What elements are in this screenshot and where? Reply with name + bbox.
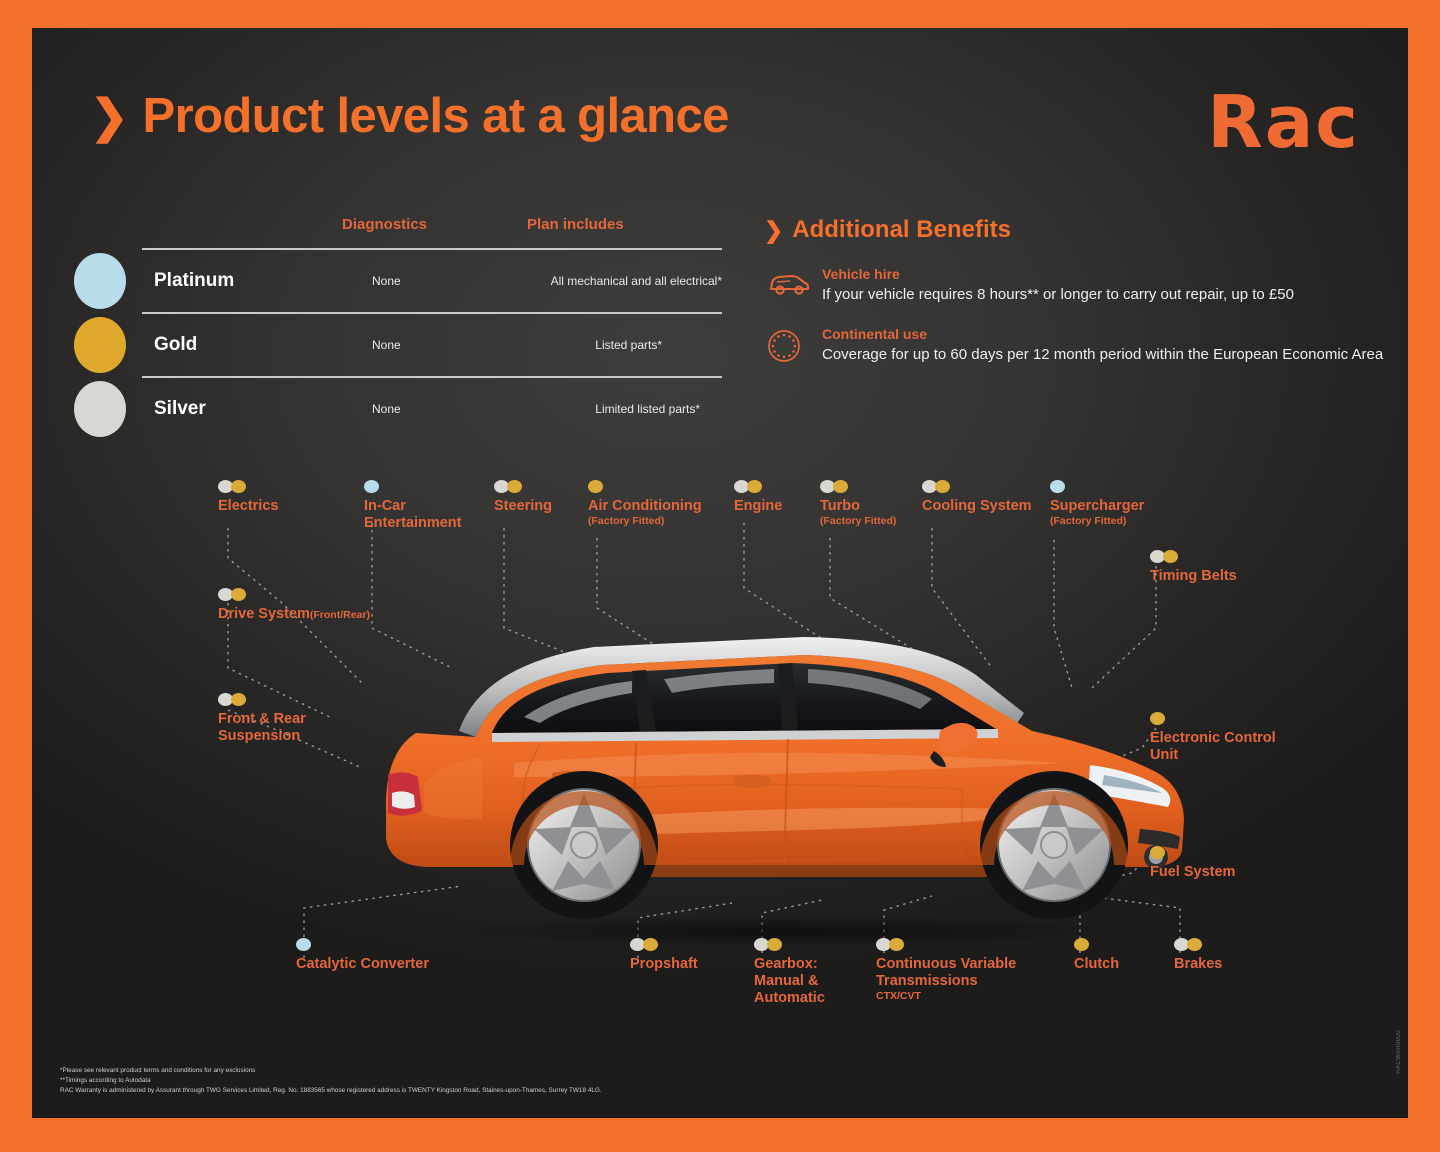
callout-electronic-control-unit: Electronic Control Unit — [1150, 712, 1276, 764]
column-header-plan-includes: Plan includes — [527, 216, 624, 233]
callout-label: Brakes — [1174, 956, 1222, 973]
coverage-dots — [1050, 480, 1144, 493]
callout-brakes: Brakes — [1174, 938, 1222, 973]
level-dot-platinum — [74, 253, 126, 309]
level-dot-silver — [74, 381, 126, 437]
callout-sublabel: (Factory Fitted) — [820, 515, 896, 527]
column-header-diagnostics: Diagnostics — [342, 216, 427, 233]
chevron-right-icon: ❯ — [764, 219, 783, 242]
callout-label: Continuous Variable Transmissions — [876, 956, 1016, 990]
dot-gold — [1074, 938, 1089, 951]
reference-code: RACWAR0000 — [1396, 1030, 1402, 1074]
infographic-poster: ❯ Product levels at a glance Rac Diagnos… — [0, 0, 1440, 1152]
level-plan-includes: Limited listed parts* — [595, 402, 700, 416]
level-name: Gold — [154, 334, 197, 356]
additional-benefits-section: ❯ Additional Benefits Vehicle hire If yo… — [764, 216, 1384, 364]
dot-platinum — [364, 480, 379, 493]
level-diagnostics: None — [372, 402, 401, 416]
dark-panel: ❯ Product levels at a glance Rac Diagnos… — [32, 28, 1408, 1118]
callout-propshaft: Propshaft — [630, 938, 698, 973]
table-row: Silver None Limited listed parts* — [142, 376, 722, 440]
dot-gold — [231, 480, 246, 493]
page-title: Product levels at a glance — [143, 88, 729, 144]
coverage-dots — [754, 938, 825, 951]
callout-supercharger: Supercharger (Factory Fitted) — [1050, 480, 1144, 527]
callout-continuous-variable-transmissions: Continuous Variable Transmissions CTX/CV… — [876, 938, 1016, 1002]
callout-label: Supercharger — [1050, 498, 1144, 515]
europe-stars-icon — [766, 328, 810, 360]
callout-timing-belts: Timing Belts — [1150, 550, 1237, 585]
callout-engine: Engine — [734, 480, 782, 515]
callout-electrics: Electrics — [218, 480, 278, 515]
dot-gold — [1163, 550, 1178, 563]
coverage-dots — [1174, 938, 1222, 951]
callout-cooling-system: Cooling System — [922, 480, 1032, 515]
callout-label: Turbo — [820, 498, 896, 515]
coverage-dots — [922, 480, 1032, 493]
callout-clutch: Clutch — [1074, 938, 1119, 973]
dot-gold — [231, 588, 246, 601]
callout-sublabel: (Front/Rear) — [310, 609, 370, 621]
callout-in-car-entertainment: In-Car Entertainment — [364, 480, 462, 532]
footer-disclaimer: *Please see relevant product terms and c… — [60, 1066, 960, 1096]
car-illustration — [364, 613, 1194, 953]
dot-platinum — [1050, 480, 1065, 493]
callout-sublabel: (Factory Fitted) — [1050, 515, 1144, 527]
level-diagnostics: None — [372, 338, 401, 352]
callout-label: Timing Belts — [1150, 568, 1237, 585]
coverage-dots — [296, 938, 429, 951]
page-title-row: ❯ Product levels at a glance — [90, 88, 729, 144]
dot-gold — [1150, 846, 1165, 859]
callout-catalytic-converter: Catalytic Converter — [296, 938, 429, 973]
callout-air-conditioning: Air Conditioning (Factory Fitted) — [588, 480, 702, 527]
callout-label: Steering — [494, 498, 552, 515]
callout-label-text: Drive System — [218, 606, 310, 622]
footer-line-3: RAC Warranty is administered by Assurant… — [60, 1086, 960, 1096]
callout-sublabel: (Factory Fitted) — [588, 515, 702, 527]
level-dot-gold — [74, 317, 126, 373]
callout-label: Engine — [734, 498, 782, 515]
level-name: Silver — [154, 398, 206, 420]
coverage-dots — [588, 480, 702, 493]
chevron-right-icon: ❯ — [90, 93, 129, 139]
benefit-body: Coverage for up to 60 days per 12 month … — [822, 345, 1384, 364]
coverage-dots — [364, 480, 462, 493]
level-diagnostics: None — [372, 274, 401, 288]
callout-label: Electrics — [218, 498, 278, 515]
coverage-dots — [630, 938, 698, 951]
coverage-dots — [734, 480, 782, 493]
callout-label: Cooling System — [922, 498, 1032, 515]
dot-gold — [889, 938, 904, 951]
coverage-dots — [1150, 846, 1235, 859]
callout-label: Air Conditioning — [588, 498, 702, 515]
callout-fuel-system: Fuel System — [1150, 846, 1235, 881]
footer-line-1: *Please see relevant product terms and c… — [60, 1066, 960, 1076]
benefit-heading: Vehicle hire — [822, 266, 1384, 282]
callout-label: Drive System(Front/Rear) — [218, 606, 370, 623]
callout-drive-system: Drive System(Front/Rear) — [218, 588, 370, 623]
table-row: Gold None Listed parts* — [142, 312, 722, 376]
coverage-dots — [1150, 550, 1237, 563]
callout-label: Gearbox: Manual & Automatic — [754, 956, 825, 1007]
benefit-heading: Continental use — [822, 326, 1384, 342]
footer-line-2: **Timings according to Autodata — [60, 1076, 960, 1086]
dot-platinum — [296, 938, 311, 951]
callout-label: In-Car Entertainment — [364, 498, 462, 532]
dot-gold — [643, 938, 658, 951]
coverage-dots — [218, 588, 370, 601]
callout-label: Electronic Control Unit — [1150, 730, 1276, 764]
level-plan-includes: Listed parts* — [595, 338, 662, 352]
table-row: Platinum None All mechanical and all ele… — [142, 248, 722, 312]
callout-label: Fuel System — [1150, 864, 1235, 881]
coverage-dots — [218, 693, 306, 706]
benefits-title: Additional Benefits — [792, 216, 1011, 244]
dot-gold — [833, 480, 848, 493]
callout-label: Propshaft — [630, 956, 698, 973]
callout-sublabel: CTX/CVT — [876, 990, 1016, 1002]
dot-gold — [231, 693, 246, 706]
dot-gold — [767, 938, 782, 951]
dot-gold — [935, 480, 950, 493]
callout-steering: Steering — [494, 480, 552, 515]
callout-turbo: Turbo (Factory Fitted) — [820, 480, 896, 527]
table-header-row: Diagnostics Plan includes — [142, 216, 722, 248]
benefit-item-vehicle-hire: Vehicle hire If your vehicle requires 8 … — [764, 266, 1384, 304]
callout-label: Front & Rear Suspension — [218, 711, 306, 745]
dot-gold — [507, 480, 522, 493]
level-plan-includes: All mechanical and all electrical* — [551, 274, 722, 288]
benefit-body: If your vehicle requires 8 hours** or lo… — [822, 285, 1384, 304]
benefits-title-row: ❯ Additional Benefits — [764, 216, 1384, 244]
callout-front-rear-suspension: Front & Rear Suspension — [218, 693, 306, 745]
coverage-dots — [494, 480, 552, 493]
callout-label: Clutch — [1074, 956, 1119, 973]
dot-gold — [747, 480, 762, 493]
level-name: Platinum — [154, 270, 234, 292]
product-levels-table: Diagnostics Plan includes Platinum None … — [142, 216, 722, 440]
car-icon — [766, 268, 810, 300]
coverage-dots — [876, 938, 1016, 951]
benefit-item-continental-use: Continental use Coverage for up to 60 da… — [764, 326, 1384, 364]
coverage-dots — [218, 480, 278, 493]
callout-gearbox: Gearbox: Manual & Automatic — [754, 938, 825, 1007]
coverage-dots — [1150, 712, 1276, 725]
coverage-dots — [820, 480, 896, 493]
rac-logo: Rac — [1207, 86, 1360, 158]
dot-gold — [1187, 938, 1202, 951]
dot-gold — [1150, 712, 1165, 725]
callout-label: Catalytic Converter — [296, 956, 429, 973]
coverage-dots — [1074, 938, 1119, 951]
dot-gold — [588, 480, 603, 493]
